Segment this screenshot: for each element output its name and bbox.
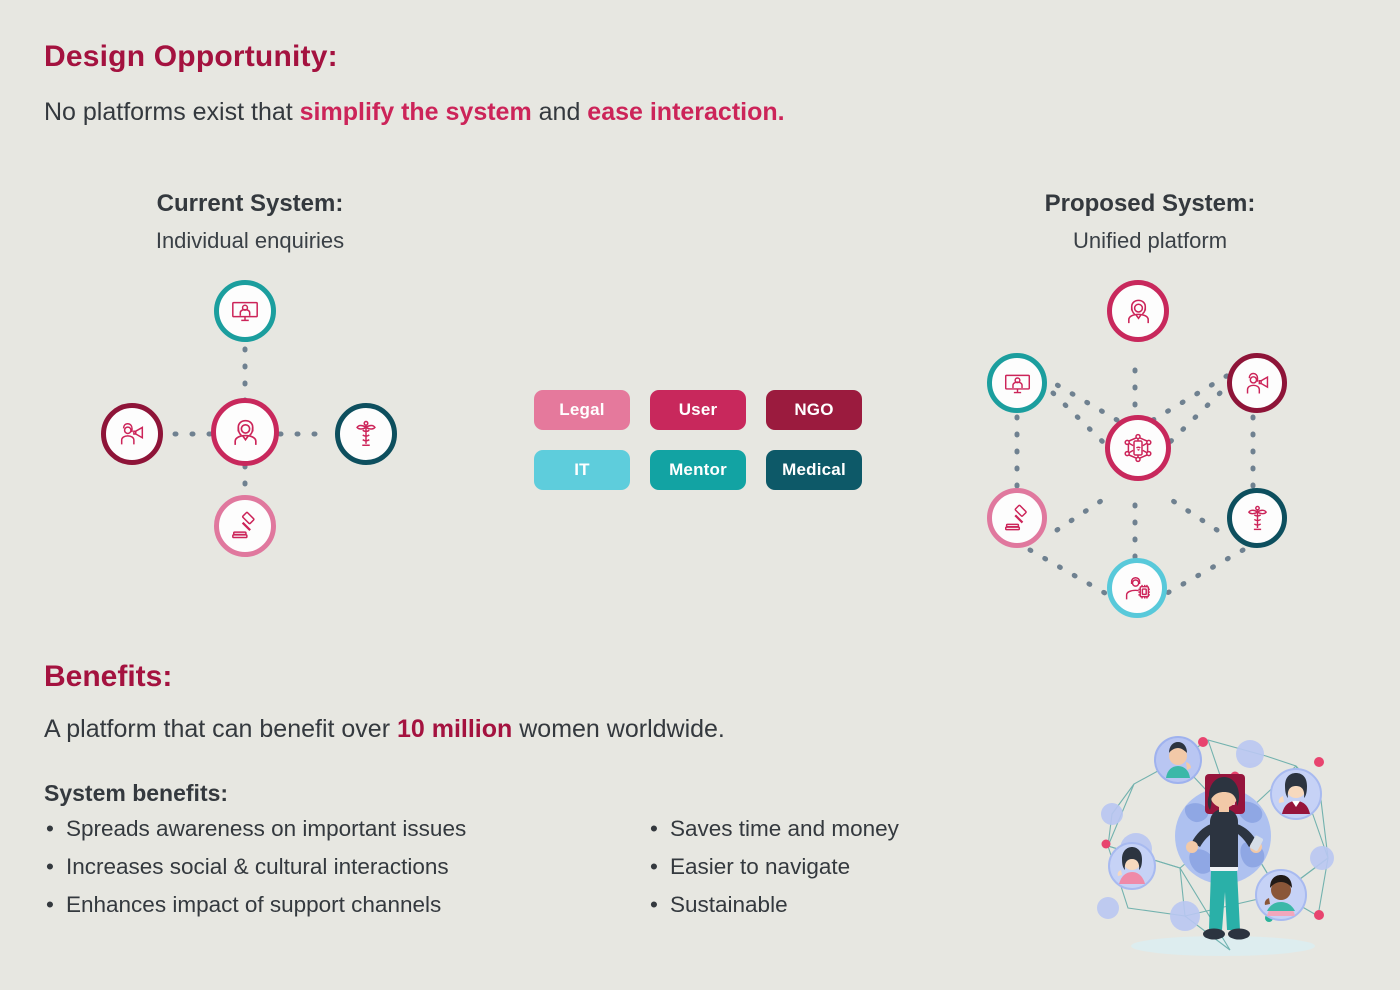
list-item: Easier to navigate bbox=[650, 848, 899, 886]
benefits-part-1: A platform that can benefit over bbox=[44, 715, 397, 743]
user-woman-icon bbox=[1123, 296, 1154, 327]
current-node-legal[interactable] bbox=[214, 495, 276, 557]
statement-highlight-2: ease interaction. bbox=[587, 98, 784, 126]
proposed-system-diagram: Proposed System: Unified platform bbox=[995, 190, 1305, 610]
proposed-node-user[interactable] bbox=[1107, 280, 1169, 342]
legend-label-legal: Legal bbox=[559, 400, 604, 420]
slide-root: Design Opportunity: No platforms exist t… bbox=[0, 0, 1400, 990]
current-node-user[interactable] bbox=[211, 398, 279, 466]
proposed-node-legal[interactable] bbox=[987, 488, 1047, 548]
mentor-monitor-icon bbox=[1003, 369, 1032, 398]
global-women-network-illustration bbox=[1090, 718, 1356, 963]
list-item: Enhances impact of support channels bbox=[46, 886, 466, 924]
proposed-node-platform-hub[interactable] bbox=[1105, 415, 1171, 481]
legend-label-mentor: Mentor bbox=[669, 460, 727, 480]
ngo-megaphone-icon bbox=[117, 419, 147, 449]
legend-label-it: IT bbox=[574, 460, 590, 480]
legal-gavel-icon bbox=[230, 511, 260, 541]
user-woman-icon bbox=[229, 416, 262, 449]
proposed-node-it[interactable] bbox=[1107, 558, 1167, 618]
list-item: Sustainable bbox=[650, 886, 899, 924]
avatar bbox=[1109, 843, 1155, 889]
current-node-medical[interactable] bbox=[335, 403, 397, 465]
proposed-system-title: Proposed System: bbox=[995, 190, 1305, 218]
current-system-diagram: Current System: Individual enquiries bbox=[95, 190, 405, 580]
design-opportunity-heading: Design Opportunity: bbox=[44, 40, 338, 74]
system-benefits-list-left: Spreads awareness on important issues In… bbox=[46, 810, 466, 924]
proposed-system-subtitle: Unified platform bbox=[995, 228, 1305, 254]
mentor-monitor-icon bbox=[230, 296, 260, 326]
list-item: Saves time and money bbox=[650, 810, 899, 848]
it-chip-person-icon bbox=[1123, 574, 1152, 603]
system-benefits-list-right: Saves time and money Easier to navigate … bbox=[650, 810, 899, 924]
legend-label-ngo: NGO bbox=[794, 400, 833, 420]
current-system-subtitle: Individual enquiries bbox=[95, 228, 405, 254]
benefits-statement: A platform that can benefit over 10 mill… bbox=[44, 715, 725, 744]
proposed-node-ngo[interactable] bbox=[1227, 353, 1287, 413]
statement-part-2: and bbox=[532, 98, 588, 126]
network-phone-icon bbox=[1122, 432, 1154, 464]
legend-pill-it[interactable]: IT bbox=[534, 450, 630, 490]
statement-part-1: No platforms exist that bbox=[44, 98, 300, 126]
legend-pill-mentor[interactable]: Mentor bbox=[650, 450, 746, 490]
statement-highlight-1: simplify the system bbox=[300, 98, 532, 126]
design-opportunity-statement: No platforms exist that simplify the sys… bbox=[44, 98, 785, 127]
medical-caduceus-icon bbox=[1243, 504, 1272, 533]
proposed-node-mentor[interactable] bbox=[987, 353, 1047, 413]
legend-pill-ngo[interactable]: NGO bbox=[766, 390, 862, 430]
medical-caduceus-icon bbox=[351, 419, 381, 449]
legend-pill-user[interactable]: User bbox=[650, 390, 746, 430]
avatar bbox=[1271, 769, 1321, 819]
ngo-megaphone-icon bbox=[1243, 369, 1272, 398]
legend-pill-medical[interactable]: Medical bbox=[766, 450, 862, 490]
legend-pill-legal[interactable]: Legal bbox=[534, 390, 630, 430]
legend-label-medical: Medical bbox=[782, 460, 846, 480]
list-item: Spreads awareness on important issues bbox=[46, 810, 466, 848]
benefits-highlight: 10 million bbox=[397, 715, 512, 743]
avatar bbox=[1155, 737, 1201, 783]
current-node-ngo[interactable] bbox=[101, 403, 163, 465]
legal-gavel-icon bbox=[1003, 504, 1032, 533]
legend-label-user: User bbox=[679, 400, 718, 420]
proposed-node-medical[interactable] bbox=[1227, 488, 1287, 548]
current-node-mentor[interactable] bbox=[214, 280, 276, 342]
benefits-heading: Benefits: bbox=[44, 660, 172, 694]
avatar bbox=[1256, 870, 1306, 920]
current-system-title: Current System: bbox=[95, 190, 405, 218]
benefits-part-2: women worldwide. bbox=[512, 715, 725, 743]
list-item: Increases social & cultural interactions bbox=[46, 848, 466, 886]
system-benefits-heading: System benefits: bbox=[44, 780, 228, 807]
